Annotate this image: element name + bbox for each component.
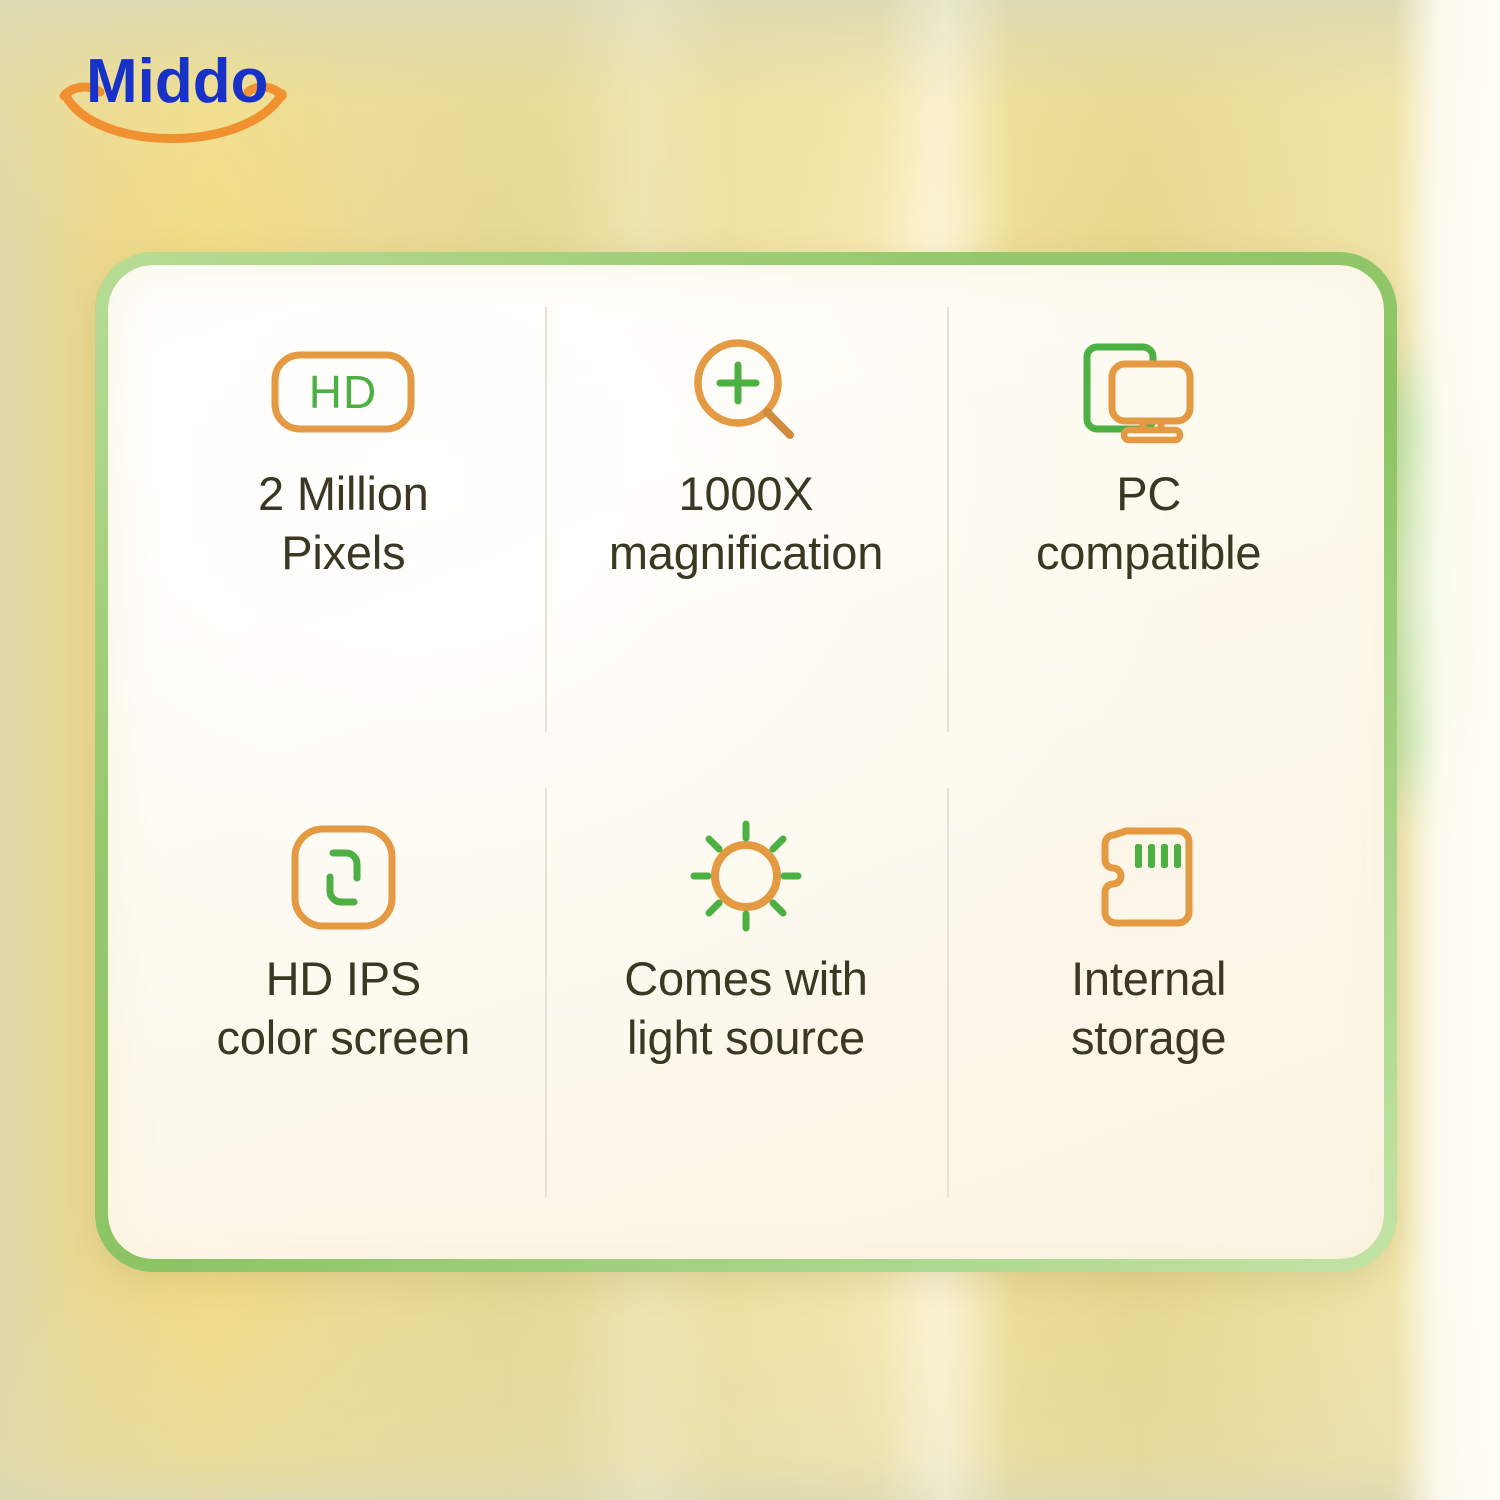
brand-name: Middo (86, 46, 269, 117)
product-feature-infographic: Middo HD 2 Million Pixels (0, 0, 1500, 1500)
feature-label: 1000X magnification (609, 464, 883, 582)
feature-item-pc-compatible: PC compatible (947, 285, 1350, 758)
feature-label: PC compatible (1036, 464, 1261, 582)
feature-item-1000x-magnification: 1000X magnification (545, 285, 948, 758)
feature-item-hd-ips-color-screen: HD IPS color screen (142, 758, 545, 1231)
brand-logo: Middo (56, 44, 356, 154)
feature-label: Internal storage (1071, 949, 1226, 1067)
feature-label: 2 Million Pixels (258, 464, 429, 582)
feature-item-2-million-pixels: HD 2 Million Pixels (142, 285, 545, 758)
monitor-device-icon (1079, 329, 1219, 454)
features-grid: HD 2 Million Pixels 1000X magnification (108, 265, 1384, 1259)
screen-frame-icon (281, 814, 406, 939)
feature-label: HD IPS color screen (217, 949, 471, 1067)
svg-text:HD: HD (309, 366, 377, 418)
sun-light-icon (681, 814, 811, 939)
feature-item-internal-storage: Internal storage (947, 758, 1350, 1231)
hd-badge-icon: HD (263, 329, 423, 454)
magnifier-plus-icon (676, 329, 816, 454)
feature-label: Comes with light source (624, 949, 868, 1067)
feature-item-light-source: Comes with light source (545, 758, 948, 1231)
memory-card-icon (1091, 814, 1206, 939)
features-card: HD 2 Million Pixels 1000X magnification (95, 252, 1397, 1272)
